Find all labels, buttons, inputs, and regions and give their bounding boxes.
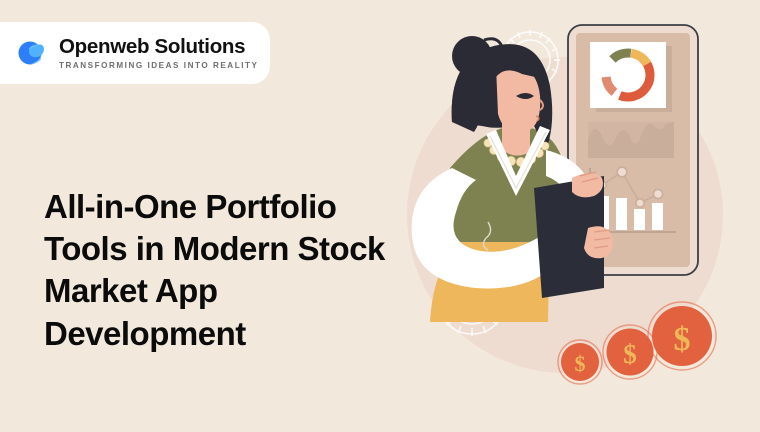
coin-small: $ [558, 340, 602, 384]
donut-chart [590, 42, 672, 112]
coin-large: $ [648, 302, 716, 370]
logo-name: Openweb Solutions [59, 36, 258, 58]
blog-banner: $ $ $ All-in-One Portfolio Tools in Mode… [0, 0, 760, 432]
hand-left [584, 226, 613, 258]
logo-tagline: TRANSFORMING IDEAS INTO REALITY [59, 61, 258, 70]
area-wave-chart [588, 122, 674, 158]
coin-medium: $ [603, 325, 657, 379]
hero-illustration: $ $ $ [390, 0, 760, 432]
logo-text: Openweb Solutions TRANSFORMING IDEAS INT… [59, 36, 258, 70]
svg-text:$: $ [575, 351, 586, 376]
openweb-swoosh-icon [16, 36, 50, 70]
svg-text:$: $ [623, 339, 637, 369]
logo-card[interactable]: Openweb Solutions TRANSFORMING IDEAS INT… [0, 22, 270, 84]
page-title: All-in-One Portfolio Tools in Modern Sto… [44, 186, 404, 355]
svg-text:$: $ [674, 321, 691, 358]
